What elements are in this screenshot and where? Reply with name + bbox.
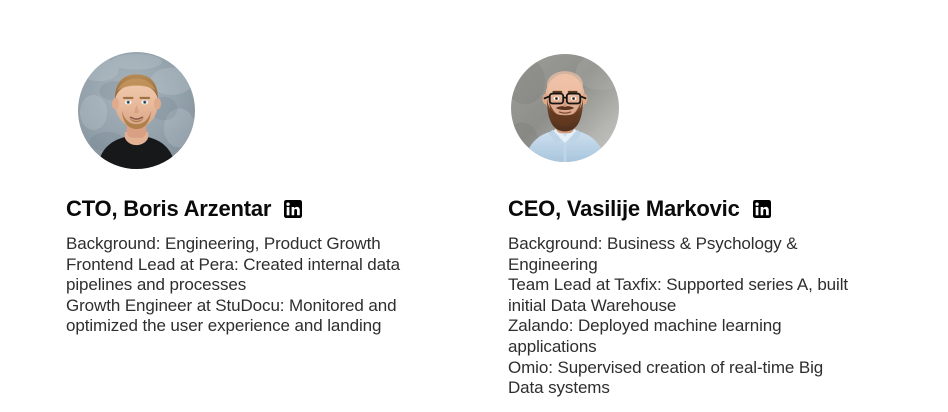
bio-line: Zalando: Deployed machine learning appli… bbox=[508, 316, 860, 357]
portrait-boris-arzentar bbox=[78, 52, 195, 169]
member-name: CEO, Vasilije Markovic bbox=[508, 196, 740, 222]
team-member-card: CEO, Vasilije Markovic Background: Busin… bbox=[508, 0, 908, 412]
bio-line: Team Lead at Taxfix: Supported series A,… bbox=[508, 275, 860, 316]
bio-line: Omio: Supervised creation of real-time B… bbox=[508, 358, 860, 399]
member-bio: Background: Engineering, Product Growth … bbox=[66, 234, 416, 337]
member-name: CTO, Boris Arzentar bbox=[66, 196, 271, 222]
team-bios-slide: CTO, Boris Arzentar Background: Engineer… bbox=[0, 0, 948, 412]
member-bio: Background: Business & Psychology & Engi… bbox=[508, 234, 860, 399]
linkedin-icon[interactable] bbox=[753, 200, 771, 218]
team-member-card: CTO, Boris Arzentar Background: Engineer… bbox=[66, 0, 466, 412]
bio-line: Background: Engineering, Product Growth bbox=[66, 234, 416, 255]
member-name-row: CEO, Vasilije Markovic bbox=[508, 196, 771, 222]
bio-line: Frontend Lead at Pera: Created internal … bbox=[66, 255, 416, 296]
portrait-vasilije-markovic bbox=[511, 54, 619, 162]
member-name-row: CTO, Boris Arzentar bbox=[66, 196, 302, 222]
bio-line: Growth Engineer at StuDocu: Monitored an… bbox=[66, 296, 416, 337]
bio-line: Background: Business & Psychology & Engi… bbox=[508, 234, 860, 275]
linkedin-icon[interactable] bbox=[284, 200, 302, 218]
